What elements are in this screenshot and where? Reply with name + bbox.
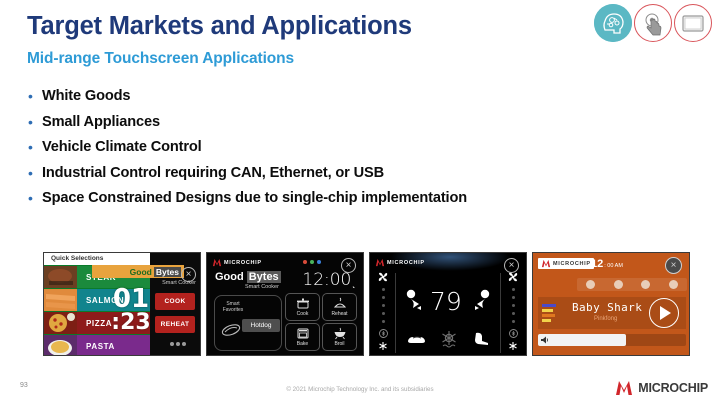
- broil-mode-button[interactable]: Broil: [322, 323, 357, 351]
- vendor-name: MICROCHIP: [224, 260, 262, 266]
- bullet-list: • White Goods • Small Appliances • Vehic…: [28, 86, 668, 214]
- pizza-thumbnail-icon: [44, 312, 77, 334]
- microchip-logo-icon: [541, 259, 551, 268]
- artist-name: Pinkfong: [594, 316, 617, 322]
- brand-good-text: Good: [130, 267, 152, 277]
- quick-selections-label: Quick Selections: [44, 253, 152, 265]
- copyright-text: © 2021 Microchip Technology Inc. and its…: [0, 386, 720, 393]
- left-fan-control[interactable]: [373, 271, 393, 355]
- slide: Target Markets and Applications Mid-rang…: [0, 0, 720, 405]
- timer-seconds: :23: [111, 311, 150, 334]
- bullet-marker-icon: •: [28, 188, 42, 208]
- bullet-text: Small Appliances: [42, 112, 160, 132]
- reheat-mode-button[interactable]: Reheat: [322, 293, 357, 321]
- list-item: • Space Constrained Designs due to singl…: [28, 188, 668, 208]
- pasta-thumbnail-icon: [44, 335, 77, 356]
- play-triangle-icon: [660, 306, 671, 320]
- hotdog-icon: [221, 322, 241, 338]
- bake-mode-button[interactable]: Bake: [285, 323, 320, 351]
- timer-minutes: 01: [113, 288, 149, 311]
- header-icon-group: [594, 4, 712, 42]
- list-item: • Industrial Control requiring CAN, Ethe…: [28, 163, 668, 183]
- cook-button[interactable]: COOK: [155, 293, 195, 310]
- fan-level-dots[interactable]: [382, 288, 385, 323]
- grill-icon: [333, 327, 347, 340]
- status-icon-bar: [577, 278, 687, 291]
- touch-hand-icon: [634, 4, 672, 42]
- status-led-group: [303, 260, 321, 264]
- defrost-level-icon: [378, 328, 389, 339]
- bullet-marker-icon: •: [28, 137, 42, 157]
- brand-bytes-text: Bytes: [154, 267, 181, 277]
- now-playing-card: Baby Shark Pinkfong: [538, 297, 686, 329]
- airflow-left-icon[interactable]: [404, 289, 428, 315]
- song-title: Baby Shark: [572, 301, 642, 314]
- list-item: • Vehicle Climate Control: [28, 137, 668, 157]
- heated-seat-icon[interactable]: [470, 331, 490, 347]
- brain-head-icon: [594, 4, 632, 42]
- vendor-logo: MICROCHIP: [538, 258, 594, 269]
- snowflake-icon: [508, 341, 518, 351]
- countdown-timer: 01 :23: [110, 265, 152, 356]
- right-fan-control[interactable]: [503, 271, 523, 355]
- microchip-logo-icon: [614, 379, 634, 397]
- vendor-name: MICROCHIP: [553, 261, 591, 267]
- fan-level-dots[interactable]: [512, 288, 515, 323]
- clock-display: 12:00◔: [302, 270, 355, 291]
- goodbytes-brand: Good Bytes: [215, 271, 281, 283]
- bullet-text: Industrial Control requiring CAN, Ethern…: [42, 163, 384, 183]
- product-name: Smart Cooker: [162, 280, 196, 286]
- cooking-mode-grid: Cook Reheat Bake: [285, 293, 357, 351]
- equalizer-icon: [542, 304, 556, 324]
- message-icon[interactable]: [586, 280, 595, 289]
- reheat-button[interactable]: REHEAT: [155, 316, 195, 333]
- media-player-demo[interactable]: MICROCHIP 12: 00 AM × Baby Shark: [532, 252, 690, 356]
- play-button[interactable]: [649, 298, 679, 328]
- speaker-icon: [540, 335, 550, 345]
- page-title: Target Markets and Applications: [27, 12, 412, 41]
- divider: [500, 273, 501, 353]
- mode-label: Cook: [297, 311, 309, 317]
- list-item: • White Goods: [28, 86, 668, 106]
- wifi-icon[interactable]: [641, 280, 650, 289]
- brand-name: MICROCHIP: [638, 381, 708, 395]
- vendor-logo: MICROCHIP: [375, 258, 425, 267]
- volume-fill: [538, 334, 626, 346]
- divider: [395, 273, 396, 353]
- page-dots-indicator[interactable]: [170, 342, 186, 346]
- bullet-marker-icon: •: [28, 163, 42, 183]
- bullet-text: Space Constrained Designs due to single-…: [42, 188, 467, 208]
- favorite-item-button[interactable]: Hotdog: [242, 319, 280, 332]
- bullet-marker-icon: •: [28, 112, 42, 132]
- bullet-marker-icon: •: [28, 86, 42, 106]
- smart-favorites-label: Smart Favorites: [222, 301, 244, 313]
- smart-cooker-timer-demo[interactable]: Quick Selections STEAK: [43, 252, 201, 356]
- brand-bytes-text: Bytes: [247, 271, 281, 283]
- fan-icon: [507, 271, 519, 283]
- bullet-text: Vehicle Climate Control: [42, 137, 202, 157]
- clock-hours: 12: [591, 258, 603, 270]
- page-subtitle: Mid-range Touchscreen Applications: [27, 50, 294, 68]
- mode-label: Reheat: [331, 311, 347, 317]
- climate-bottom-bar: [400, 330, 496, 348]
- clock-display: 12: 00 AM: [591, 258, 623, 270]
- airflow-right-icon[interactable]: [468, 289, 492, 315]
- demo-screenshot-row: Quick Selections STEAK: [43, 252, 690, 356]
- volume-slider[interactable]: [538, 334, 686, 346]
- clock-suffix: : 00 AM: [604, 263, 623, 269]
- cook-mode-button[interactable]: Cook: [285, 293, 320, 321]
- oven-icon: [296, 327, 310, 340]
- defrost-level-icon: [508, 328, 519, 339]
- product-name: Smart Cooker: [245, 284, 279, 290]
- mode-label: Bake: [297, 341, 308, 347]
- temperature-value: 79: [430, 287, 462, 316]
- vendor-name: MICROCHIP: [387, 260, 425, 266]
- list-item: • Small Appliances: [28, 112, 668, 132]
- microchip-logo-icon: [375, 258, 385, 267]
- smart-favorites-panel[interactable]: Smart Favorites Hotdog: [214, 295, 282, 351]
- microchip-logo-icon: [212, 258, 222, 267]
- microchip-brand-logo: MICROCHIP: [614, 379, 708, 397]
- steak-thumbnail-icon: [44, 266, 77, 288]
- brand-good-text: Good: [215, 271, 244, 283]
- bullet-text: White Goods: [42, 86, 130, 106]
- close-icon[interactable]: ×: [665, 257, 682, 274]
- microwave-icon: [333, 297, 347, 310]
- tablet-screen-icon: [674, 4, 712, 42]
- goodbytes-brand-banner: Good Bytes: [92, 265, 184, 278]
- vehicle-climate-control-demo[interactable]: MICROCHIP ×: [369, 252, 527, 356]
- pot-icon: [296, 297, 310, 310]
- snowflake-icon: [378, 341, 388, 351]
- mode-label: Broil: [334, 341, 344, 347]
- salmon-thumbnail-icon: [44, 289, 77, 311]
- recirculation-icon[interactable]: [406, 332, 428, 346]
- info-icon[interactable]: [669, 280, 678, 289]
- smart-cooker-menu-demo[interactable]: MICROCHIP × Good Bytes Smart Cooker Smar…: [206, 252, 364, 356]
- bluetooth-icon[interactable]: [614, 280, 623, 289]
- fan-icon: [377, 271, 389, 283]
- vendor-logo: MICROCHIP: [212, 258, 262, 267]
- ac-defrost-icon[interactable]: [439, 330, 459, 348]
